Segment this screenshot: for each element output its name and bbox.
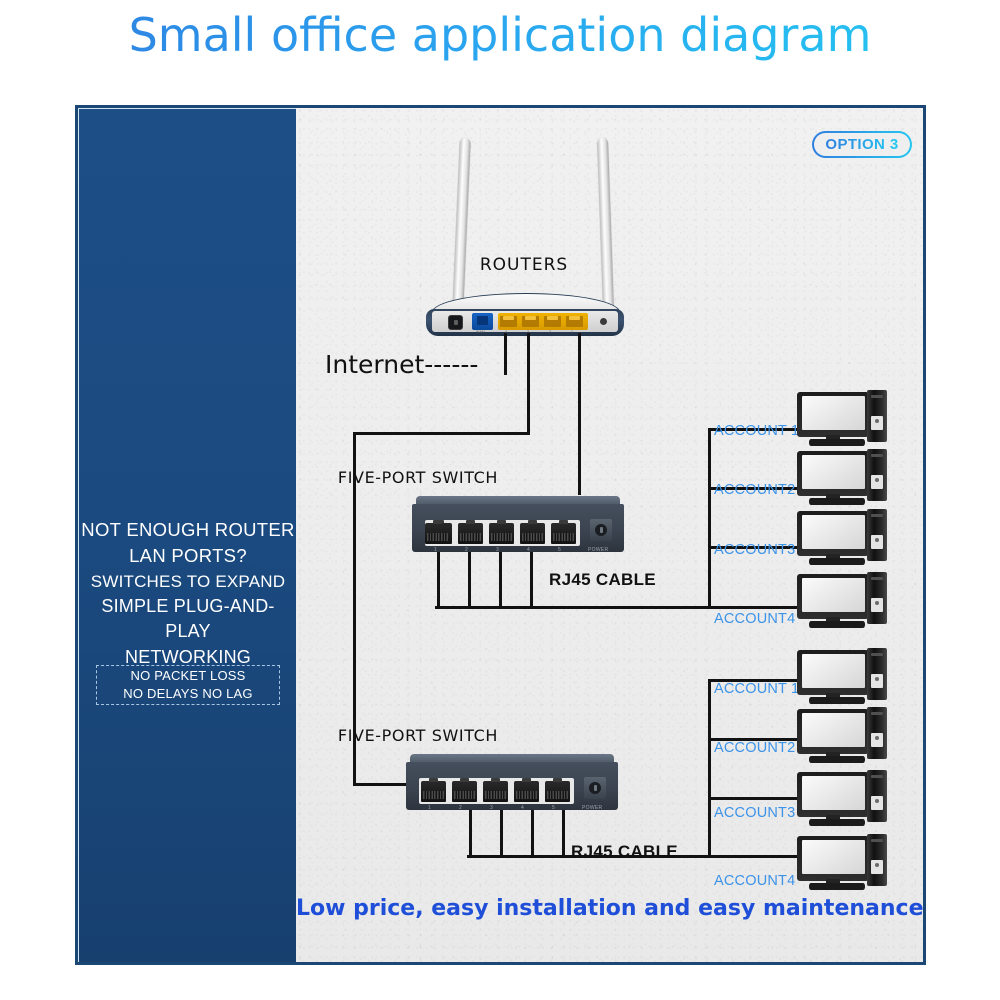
sidebar-line-4: SIMPLE PLUG-AND-PLAY <box>79 594 297 645</box>
pc-tower-icon <box>867 834 887 886</box>
sidebar-panel: NOT ENOUGH ROUTER LAN PORTS? SWITCHES TO… <box>78 108 296 962</box>
pc-tower-icon <box>867 648 887 700</box>
switch-bottom-port-1-icon <box>421 781 446 802</box>
monitor-base <box>809 697 865 704</box>
sidebar-line-1: NOT ENOUGH ROUTER <box>79 517 297 543</box>
switch-bottom-device: 1 2 3 4 5 POWER <box>406 754 618 812</box>
monitor-icon <box>797 709 869 754</box>
option-badge-inner: OPTION 3 <box>814 133 911 157</box>
switch-top-port-3-icon <box>425 523 450 544</box>
wire-router-to-bottom-switch-run <box>353 432 530 435</box>
wire-router-to-top-switch <box>578 333 581 495</box>
wire-bottom-switch-drop-1 <box>469 810 472 857</box>
sidebar-line-2: LAN PORTS? <box>79 543 297 569</box>
monitor-icon <box>797 392 869 437</box>
wire-top-group-riser <box>708 428 711 609</box>
pc-tower-panel <box>871 796 883 810</box>
router-lan-port-1-icon <box>566 316 583 327</box>
router-power-jack-icon <box>448 315 463 330</box>
switch-top-port-num-5: 5 <box>558 547 561 553</box>
computer-bottom-3 <box>797 772 889 828</box>
computer-bottom-4 <box>797 836 889 892</box>
monitor-base <box>809 621 865 628</box>
wire-bottom-switch-drop-4 <box>562 810 565 857</box>
account-label-top-2: ACCOUNT2 <box>714 482 795 498</box>
pc-tower-icon <box>867 770 887 822</box>
monitor-base <box>809 756 865 763</box>
monitor-base <box>809 883 865 890</box>
monitor-screen <box>802 654 865 688</box>
router-port-face: WAN 4 3 2 1 <box>432 311 618 332</box>
router-antenna-left-icon <box>452 138 471 314</box>
switch-bottom-label: FIVE-PORT SWITCH <box>288 726 548 745</box>
switch-bottom-port-num-2: 2 <box>459 805 462 811</box>
account-label-bottom-3: ACCOUNT3 <box>714 805 795 821</box>
option-badge-label: OPTION 3 <box>825 136 898 153</box>
switch-bottom-port-num-1: 1 <box>428 805 431 811</box>
computer-bottom-2 <box>797 709 889 765</box>
computer-top-1 <box>797 392 889 448</box>
wire-top-branch-4 <box>708 606 798 609</box>
switch-top-port-4-icon <box>520 523 545 544</box>
wire-bottom-switch-drop-3 <box>531 810 534 857</box>
switch-top-label: FIVE-PORT SWITCH <box>288 468 548 487</box>
switch-bottom-port-bank <box>419 778 574 804</box>
monitor-screen <box>802 840 865 874</box>
pc-tower-panel <box>871 416 883 430</box>
pc-tower-panel <box>871 535 883 549</box>
monitor-icon <box>797 451 869 496</box>
pc-tower-panel <box>871 860 883 874</box>
switch-bottom-port-3-icon <box>483 781 508 802</box>
switch-bottom-port-num-5: 5 <box>552 805 555 811</box>
switch-bottom-power-jack-icon <box>584 777 606 799</box>
switch-bottom-port-num-3: 3 <box>490 805 493 811</box>
pc-tower-icon <box>867 449 887 501</box>
router-lan-label-2: 2 <box>549 330 551 334</box>
computer-top-4 <box>797 574 889 630</box>
router-lan-port-2-icon <box>544 316 561 327</box>
router-device: ROUTERS WAN 4 3 2 1 <box>424 133 624 333</box>
switch-top-body: 1 2 3 4 5 POWER <box>412 504 624 552</box>
wire-top-switch-drop-1 <box>437 552 440 609</box>
account-label-top-1: ACCOUNT 1 <box>714 423 799 439</box>
switch-bottom-port-5-icon <box>545 781 570 802</box>
monitor-icon <box>797 650 869 695</box>
account-label-top-3: ACCOUNT3 <box>714 542 795 558</box>
wire-top-switch-drop-4 <box>530 552 533 609</box>
monitor-icon <box>797 574 869 619</box>
router-lan-label-1: 1 <box>571 330 573 334</box>
tagline: Low price, easy installation and easy ma… <box>296 896 916 921</box>
router-wan-port-icon <box>472 313 493 330</box>
wire-bottom-switch-drop-2 <box>500 810 503 857</box>
monitor-base <box>809 558 865 565</box>
switch-top-port-3b-icon <box>489 523 514 544</box>
monitor-screen <box>802 455 865 489</box>
monitor-base <box>809 498 865 505</box>
switch-top-port-2-icon <box>458 523 483 544</box>
rj45-cable-label-top: RJ45 CABLE <box>549 570 656 590</box>
computer-top-2 <box>797 451 889 507</box>
badge-line-2: NO DELAYS NO LAG <box>123 685 252 703</box>
wire-bottom-switch-uplink-into-port <box>353 783 408 786</box>
monitor-screen <box>802 776 865 810</box>
router-reset-button-icon <box>600 318 607 325</box>
pc-tower-icon <box>867 572 887 624</box>
wire-top-switch-drop-2 <box>468 552 471 609</box>
sidebar-text-block: NOT ENOUGH ROUTER LAN PORTS? SWITCHES TO… <box>79 517 297 670</box>
option-badge: OPTION 3 <box>812 131 912 158</box>
monitor-icon <box>797 772 869 817</box>
wire-router-to-bottom-switch-drop <box>527 333 530 435</box>
computer-top-3 <box>797 511 889 567</box>
monitor-screen <box>802 578 865 612</box>
switch-top-device: 1 2 3 4 5 POWER <box>412 496 624 554</box>
switch-top-power-label: POWER <box>588 547 608 553</box>
pc-tower-panel <box>871 598 883 612</box>
wire-bottom-branch-3 <box>708 797 798 800</box>
account-label-top-4: ACCOUNT4 <box>714 611 795 627</box>
monitor-base <box>809 819 865 826</box>
sidebar-line-3: SWITCHES TO EXPAND <box>79 570 297 594</box>
switch-top-port-5-icon <box>551 523 576 544</box>
wire-internet-wan-stub <box>504 333 507 375</box>
router-lan-port-strip <box>498 313 588 330</box>
router-label: ROUTERS <box>424 255 624 275</box>
monitor-icon <box>797 511 869 556</box>
monitor-screen <box>802 396 865 430</box>
switch-top-power-jack-icon <box>590 519 612 541</box>
pc-tower-panel <box>871 733 883 747</box>
sidebar-guarantee-badge: NO PACKET LOSS NO DELAYS NO LAG <box>96 665 280 705</box>
pc-tower-icon <box>867 390 887 442</box>
wire-top-switch-bus <box>435 606 710 609</box>
switch-bottom-port-num-4: 4 <box>521 805 524 811</box>
diagram-canvas: Small office application diagram NOT ENO… <box>0 0 1000 1000</box>
wire-bottom-group-riser <box>708 679 711 858</box>
wire-bottom-branch-4 <box>708 855 798 858</box>
router-lan-port-3-icon <box>522 316 539 327</box>
page-title: Small office application diagram <box>0 8 1000 62</box>
monitor-base <box>809 439 865 446</box>
monitor-screen <box>802 515 865 549</box>
pc-tower-panel <box>871 475 883 489</box>
monitor-screen <box>802 713 865 747</box>
switch-bottom-power-label: POWER <box>582 805 602 811</box>
account-label-bottom-4: ACCOUNT4 <box>714 873 795 889</box>
pc-tower-panel <box>871 674 883 688</box>
switch-bottom-body: 1 2 3 4 5 POWER <box>406 762 618 810</box>
router-lan-port-4-icon <box>500 316 517 327</box>
switch-bottom-port-4-icon <box>514 781 539 802</box>
badge-line-1: NO PACKET LOSS <box>130 667 245 685</box>
internet-label: Internet------ <box>325 350 478 379</box>
switch-top-port-bank <box>425 520 580 546</box>
account-label-bottom-1: ACCOUNT 1 <box>714 681 799 697</box>
rj45-cable-label-bottom: RJ45 CABLE <box>571 842 678 862</box>
pc-tower-icon <box>867 509 887 561</box>
pc-tower-icon <box>867 707 887 759</box>
computer-bottom-1 <box>797 650 889 706</box>
router-wan-port-label: WAN <box>476 330 485 334</box>
router-antenna-right-icon <box>597 138 614 310</box>
switch-bottom-port-2-icon <box>452 781 477 802</box>
monitor-icon <box>797 836 869 881</box>
account-label-bottom-2: ACCOUNT2 <box>714 740 795 756</box>
wire-top-switch-drop-3 <box>499 552 502 609</box>
